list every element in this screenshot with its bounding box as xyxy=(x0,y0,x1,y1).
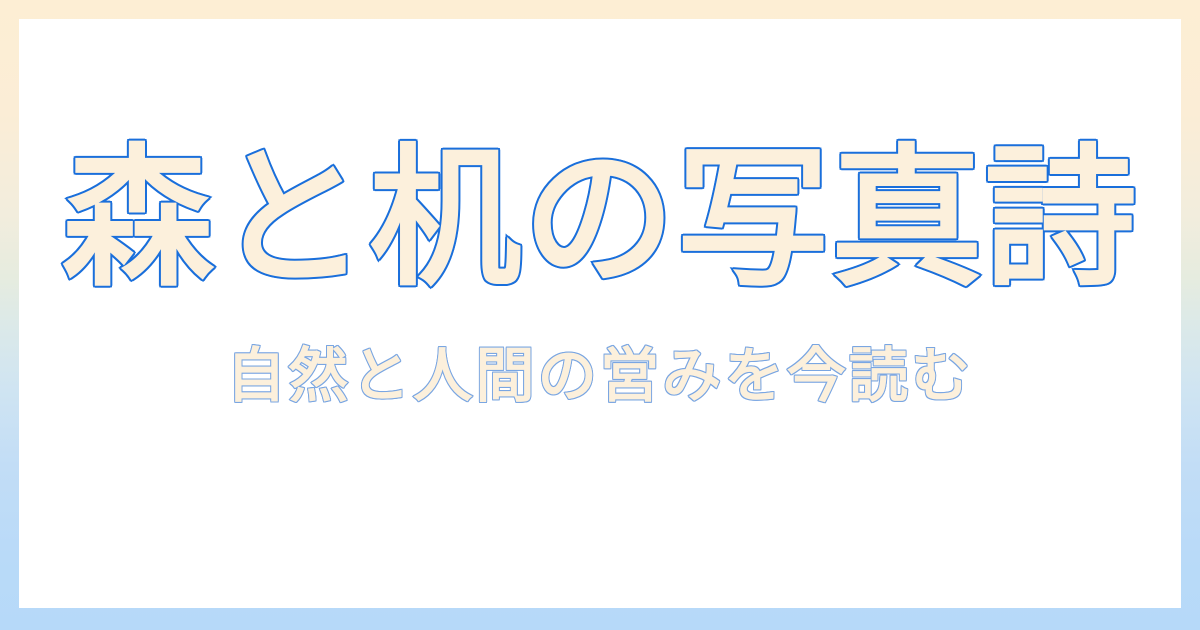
page-title: 森と机の写真詩 xyxy=(19,141,1181,298)
content-stage: 森と机の写真詩 自然と人間の営みを今読む xyxy=(19,19,1181,608)
ogp-card: 森と机の写真詩 自然と人間の営みを今読む xyxy=(0,0,1200,630)
text-block: 森と机の写真詩 自然と人間の営みを今読む xyxy=(19,19,1181,407)
page-subtitle: 自然と人間の営みを今読む xyxy=(19,298,1181,408)
